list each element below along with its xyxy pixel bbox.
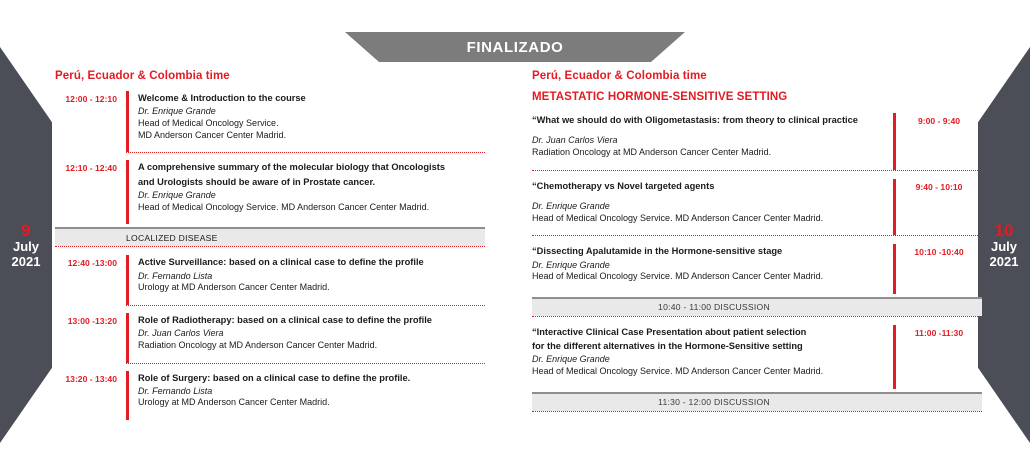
session-divider bbox=[532, 235, 982, 236]
session-body: “Chemotherapy vs Novel targeted agents D… bbox=[532, 179, 893, 236]
session-title: “Chemotherapy vs Novel targeted agents bbox=[532, 180, 883, 192]
discussion-band: 10:40 - 11:00 DISCUSSION bbox=[532, 297, 982, 316]
discussion-band-label: 10:40 - 11:00 DISCUSSION bbox=[532, 302, 982, 312]
session-affiliation: Urology at MD Anderson Cancer Center Mad… bbox=[138, 282, 485, 294]
session-row: “Dissecting Apalutamide in the Hormone-s… bbox=[532, 244, 982, 294]
session-title: for the different alternatives in the Ho… bbox=[532, 340, 883, 352]
session-row: 13:20 - 13:40 Role of Surgery: based on … bbox=[55, 371, 485, 421]
date-tab-right-year: 2021 bbox=[990, 255, 1019, 270]
session-divider bbox=[126, 152, 485, 153]
session-row: “Chemotherapy vs Novel targeted agents D… bbox=[532, 179, 982, 236]
date-tab-left-year: 2021 bbox=[12, 255, 41, 270]
session-row: 13:00 -13:20 Role of Radiotherapy: based… bbox=[55, 313, 485, 363]
date-tab-right-month: July bbox=[991, 240, 1017, 255]
session-time: 9:40 - 10:10 bbox=[896, 179, 982, 236]
session-body: “Dissecting Apalutamide in the Hormone-s… bbox=[532, 244, 893, 294]
session-speaker: Dr. Fernando Lista bbox=[138, 271, 485, 283]
session-body: “What we should do with Oligometastasis:… bbox=[532, 113, 893, 170]
session-speaker: Dr. Fernando Lista bbox=[138, 386, 485, 398]
session-title: “What we should do with Oligometastasis:… bbox=[532, 114, 883, 126]
session-affiliation: Urology at MD Anderson Cancer Center Mad… bbox=[138, 397, 485, 409]
session-row: 12:00 - 12:10 Welcome & Introduction to … bbox=[55, 91, 485, 152]
session-speaker: Dr. Enrique Grande bbox=[138, 106, 485, 118]
timezone-header-left: Perú, Ecuador & Colombia time bbox=[55, 70, 485, 82]
session-title: Active Surveillance: based on a clinical… bbox=[138, 256, 485, 268]
session-affiliation: Radiation Oncology at MD Anderson Cancer… bbox=[138, 340, 485, 352]
date-tab-left-month: July bbox=[13, 240, 39, 255]
session-body: A comprehensive summary of the molecular… bbox=[138, 160, 485, 224]
discussion-band-label: 11:30 - 12:00 DISCUSSION bbox=[532, 397, 982, 407]
session-time: 13:20 - 13:40 bbox=[55, 371, 117, 384]
session-affiliation: Head of Medical Oncology Service. MD And… bbox=[532, 213, 883, 225]
agenda-column-day2: Perú, Ecuador & Colombia time METASTATIC… bbox=[532, 70, 982, 420]
session-title: A comprehensive summary of the molecular… bbox=[138, 161, 485, 173]
session-time: 9:00 - 9:40 bbox=[896, 113, 982, 170]
session-accent-bar bbox=[126, 255, 129, 305]
session-title: “Interactive Clinical Case Presentation … bbox=[532, 326, 883, 338]
session-affiliation: Head of Medical Oncology Service. MD And… bbox=[532, 271, 883, 283]
session-body: Active Surveillance: based on a clinical… bbox=[138, 255, 485, 305]
section-band-divider bbox=[55, 246, 485, 247]
session-accent-bar bbox=[126, 313, 129, 363]
session-body: “Interactive Clinical Case Presentation … bbox=[532, 325, 893, 389]
session-row: “What we should do with Oligometastasis:… bbox=[532, 113, 982, 170]
section-band-localized-disease: LOCALIZED DISEASE bbox=[55, 227, 485, 246]
discussion-band-divider bbox=[532, 316, 982, 317]
session-speaker: Dr. Juan Carlos Viera bbox=[138, 328, 485, 340]
spacer bbox=[532, 128, 883, 135]
session-body: Role of Surgery: based on a clinical cas… bbox=[138, 371, 485, 421]
session-body: Welcome & Introduction to the course Dr.… bbox=[138, 91, 485, 152]
session-accent-bar bbox=[126, 91, 129, 152]
session-affiliation: Head of Medical Oncology Service. MD And… bbox=[138, 202, 485, 214]
session-divider bbox=[532, 170, 982, 171]
discussion-band: 11:30 - 12:00 DISCUSSION bbox=[532, 392, 982, 411]
session-time: 12:00 - 12:10 bbox=[55, 91, 117, 104]
session-affiliation: Radiation Oncology at MD Anderson Cancer… bbox=[532, 147, 883, 159]
date-tab-right-day: 10 bbox=[994, 221, 1013, 240]
session-title: Welcome & Introduction to the course bbox=[138, 92, 485, 104]
session-speaker: Dr. Enrique Grande bbox=[138, 190, 485, 202]
session-title: and Urologists should be aware of in Pro… bbox=[138, 176, 485, 188]
session-title: Role of Radiotherapy: based on a clinica… bbox=[138, 314, 485, 326]
session-accent-bar bbox=[126, 371, 129, 421]
session-time: 11:00 -11:30 bbox=[896, 325, 982, 389]
session-time: 13:00 -13:20 bbox=[55, 313, 117, 326]
date-tab-left-day: 9 bbox=[21, 221, 31, 240]
section-band-label: LOCALIZED DISEASE bbox=[55, 233, 218, 243]
session-affiliation: MD Anderson Cancer Center Madrid. bbox=[138, 130, 485, 142]
timezone-header-right: Perú, Ecuador & Colombia time bbox=[532, 70, 982, 82]
session-title: “Dissecting Apalutamide in the Hormone-s… bbox=[532, 245, 883, 257]
session-affiliation: Head of Medical Oncology Service. MD And… bbox=[532, 366, 883, 378]
session-affiliation: Head of Medical Oncology Service. bbox=[138, 118, 485, 130]
session-time: 12:40 -13:00 bbox=[55, 255, 117, 268]
date-tab-left: 9 July 2021 bbox=[0, 47, 52, 443]
session-accent-bar bbox=[126, 160, 129, 224]
spacer bbox=[532, 194, 883, 201]
session-divider bbox=[126, 305, 485, 306]
agenda-column-day1: Perú, Ecuador & Colombia time 12:00 - 12… bbox=[55, 70, 485, 420]
status-banner: FINALIZADO bbox=[345, 32, 685, 62]
session-time: 10:10 -10:40 bbox=[896, 244, 982, 294]
session-divider bbox=[126, 363, 485, 364]
session-row: “Interactive Clinical Case Presentation … bbox=[532, 325, 982, 389]
session-speaker: Dr. Enrique Grande bbox=[532, 354, 883, 366]
section-header-metastatic: METASTATIC HORMONE-SENSITIVE SETTING bbox=[532, 91, 982, 103]
session-speaker: Dr. Juan Carlos Viera bbox=[532, 135, 883, 147]
session-body: Role of Radiotherapy: based on a clinica… bbox=[138, 313, 485, 363]
session-time: 12:10 - 12:40 bbox=[55, 160, 117, 173]
session-speaker: Dr. Enrique Grande bbox=[532, 201, 883, 213]
session-row: 12:10 - 12:40 A comprehensive summary of… bbox=[55, 160, 485, 224]
date-tab-right: 10 July 2021 bbox=[978, 47, 1030, 443]
discussion-band-divider bbox=[532, 411, 982, 412]
session-row: 12:40 -13:00 Active Surveillance: based … bbox=[55, 255, 485, 305]
session-speaker: Dr. Enrique Grande bbox=[532, 260, 883, 272]
session-title: Role of Surgery: based on a clinical cas… bbox=[138, 372, 485, 384]
